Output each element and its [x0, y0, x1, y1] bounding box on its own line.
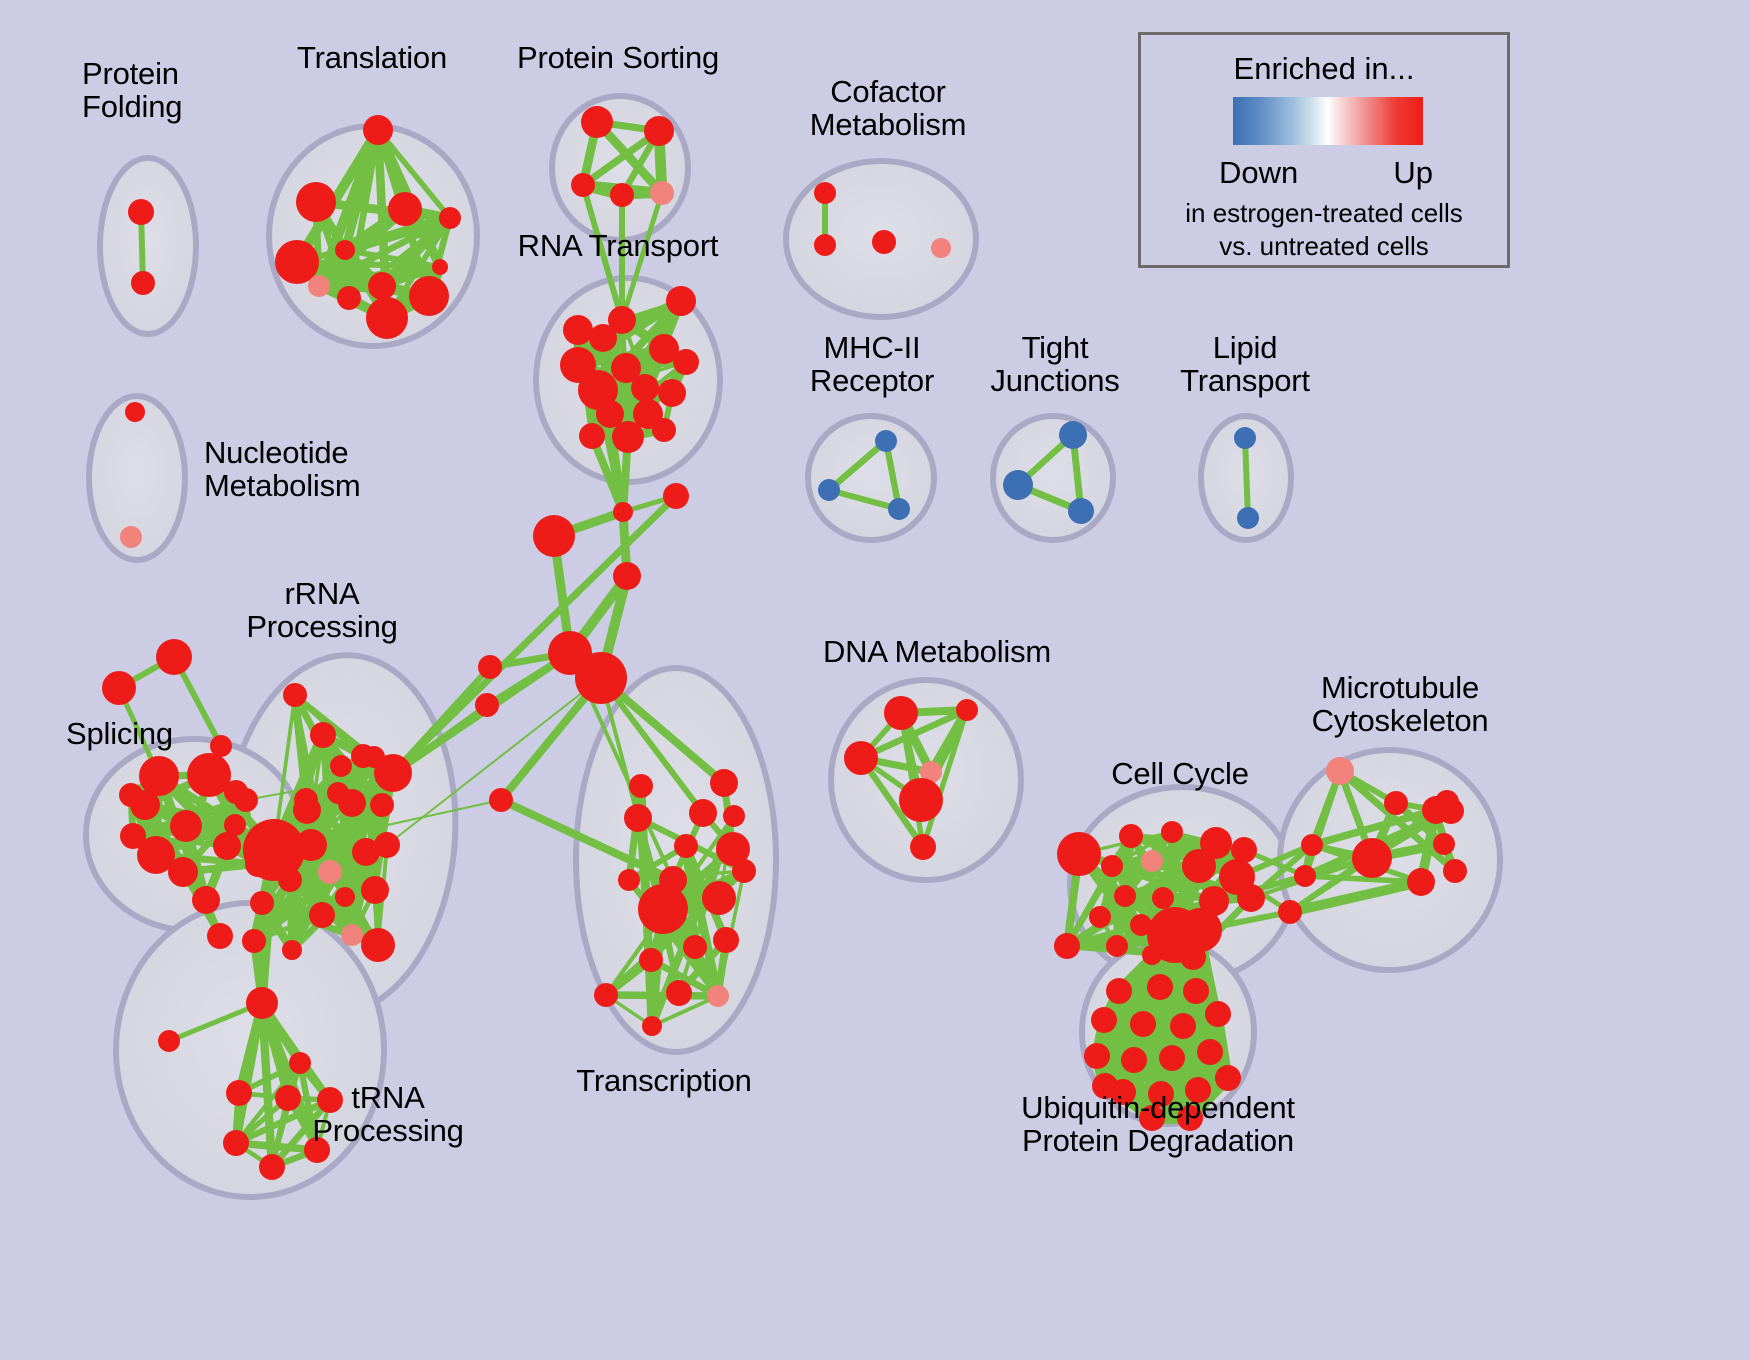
- legend-up-label: Up: [1393, 155, 1433, 191]
- cluster-ellipse-mhc-ii-receptor: [808, 416, 934, 540]
- gene-set-node[interactable]: [309, 902, 335, 928]
- gene-set-node[interactable]: [368, 272, 396, 300]
- gene-set-node[interactable]: [818, 479, 840, 501]
- gene-set-node[interactable]: [1161, 821, 1183, 843]
- gene-set-node[interactable]: [119, 783, 143, 807]
- gene-set-node[interactable]: [1433, 833, 1455, 855]
- gene-set-node[interactable]: [1180, 944, 1206, 970]
- gene-set-node[interactable]: [629, 774, 653, 798]
- gene-set-node[interactable]: [1182, 849, 1216, 883]
- gene-set-node[interactable]: [361, 876, 389, 904]
- gene-set-node[interactable]: [432, 259, 448, 275]
- cluster-label-lipid-transport: Lipid Transport: [1180, 332, 1310, 398]
- gene-set-node[interactable]: [814, 182, 836, 204]
- gene-set-node[interactable]: [732, 859, 756, 883]
- gene-set-node[interactable]: [702, 881, 736, 915]
- gene-set-node[interactable]: [120, 823, 146, 849]
- cluster-label-trna-processing: tRNA Processing: [312, 1082, 463, 1148]
- gene-set-node[interactable]: [366, 297, 408, 339]
- gene-set-node[interactable]: [1147, 974, 1173, 1000]
- gene-set-node[interactable]: [707, 985, 729, 1007]
- gene-set-node[interactable]: [814, 234, 836, 256]
- gene-set-node[interactable]: [533, 515, 575, 557]
- enrichment-map-figure: Protein FoldingTranslationProtein Sortin…: [0, 0, 1750, 1360]
- gene-set-node[interactable]: [644, 116, 674, 146]
- cluster-label-translation: Translation: [297, 42, 447, 75]
- cluster-label-tight-junctions: Tight Junctions: [990, 332, 1119, 398]
- gene-set-node[interactable]: [884, 696, 918, 730]
- gene-set-node[interactable]: [120, 526, 142, 548]
- gene-set-node[interactable]: [888, 498, 910, 520]
- gene-set-node[interactable]: [1205, 1001, 1231, 1027]
- gene-set-node[interactable]: [318, 860, 342, 884]
- gene-set-node[interactable]: [330, 755, 352, 777]
- gene-set-node[interactable]: [289, 1052, 311, 1074]
- gene-set-node[interactable]: [1301, 834, 1323, 856]
- gene-set-node[interactable]: [663, 483, 689, 509]
- gene-set-node[interactable]: [226, 1080, 252, 1106]
- gene-set-node[interactable]: [1054, 933, 1080, 959]
- gene-set-node[interactable]: [658, 379, 686, 407]
- cluster-ellipse-protein-folding: [100, 158, 196, 334]
- gene-set-node[interactable]: [1057, 832, 1101, 876]
- gene-set-node[interactable]: [1215, 1065, 1241, 1091]
- gene-set-node[interactable]: [1237, 884, 1265, 912]
- gene-set-node[interactable]: [1443, 859, 1467, 883]
- gene-set-node[interactable]: [612, 421, 644, 453]
- gene-set-node[interactable]: [335, 887, 355, 907]
- gene-set-node[interactable]: [618, 869, 640, 891]
- overlap-edge: [1245, 438, 1248, 518]
- gene-set-node[interactable]: [275, 1085, 301, 1111]
- cluster-label-microtubule-cytoskeleton: Microtubule Cytoskeleton: [1312, 672, 1489, 738]
- legend-title: Enriched in...: [1141, 51, 1507, 87]
- gene-set-node[interactable]: [1106, 978, 1132, 1004]
- gene-set-node[interactable]: [361, 928, 395, 962]
- gene-set-node[interactable]: [1384, 791, 1408, 815]
- gene-set-node[interactable]: [207, 923, 233, 949]
- gene-set-node[interactable]: [210, 735, 232, 757]
- cluster-label-ubiquitin-degradation: Ubiquitin-dependent Protein Degradation: [1021, 1092, 1295, 1158]
- gene-set-node[interactable]: [1089, 906, 1111, 928]
- gene-set-node[interactable]: [295, 829, 327, 861]
- gene-set-node[interactable]: [571, 173, 595, 197]
- gene-set-node[interactable]: [1119, 824, 1143, 848]
- gene-set-node[interactable]: [931, 238, 951, 258]
- gene-set-node[interactable]: [639, 948, 663, 972]
- gene-set-node[interactable]: [1234, 427, 1256, 449]
- gene-set-node[interactable]: [713, 927, 739, 953]
- gene-set-node[interactable]: [594, 983, 618, 1007]
- gene-set-node[interactable]: [278, 868, 302, 892]
- gene-set-node[interactable]: [282, 940, 302, 960]
- gene-set-node[interactable]: [683, 935, 707, 959]
- gene-set-node[interactable]: [168, 857, 198, 887]
- gene-set-node[interactable]: [156, 639, 192, 675]
- cluster-label-transcription: Transcription: [576, 1065, 751, 1098]
- gene-set-node[interactable]: [956, 699, 978, 721]
- gene-set-node[interactable]: [1183, 978, 1209, 1004]
- gene-set-node[interactable]: [624, 804, 652, 832]
- gene-set-node[interactable]: [131, 271, 155, 295]
- gene-set-node[interactable]: [1084, 1043, 1110, 1069]
- gene-set-node[interactable]: [575, 652, 627, 704]
- gene-set-node[interactable]: [337, 286, 361, 310]
- gene-set-node[interactable]: [475, 693, 499, 717]
- gene-set-node[interactable]: [310, 722, 336, 748]
- gene-set-node[interactable]: [1068, 498, 1094, 524]
- cluster-label-rrna-processing: rRNA Processing: [246, 578, 397, 644]
- gene-set-node[interactable]: [1130, 914, 1152, 936]
- gene-set-node[interactable]: [631, 374, 659, 402]
- gene-set-node[interactable]: [638, 884, 688, 934]
- gene-set-node[interactable]: [246, 987, 278, 1019]
- gene-set-node[interactable]: [581, 106, 613, 138]
- gene-set-node[interactable]: [388, 192, 422, 226]
- gene-set-node[interactable]: [1326, 757, 1354, 785]
- gene-set-node[interactable]: [242, 929, 266, 953]
- gene-set-node[interactable]: [689, 799, 717, 827]
- gene-set-node[interactable]: [213, 832, 241, 860]
- legend-subtitle-line1: in estrogen-treated cells: [1141, 198, 1507, 229]
- gene-set-node[interactable]: [439, 207, 461, 229]
- gene-set-node[interactable]: [170, 810, 202, 842]
- gene-set-node[interactable]: [294, 788, 318, 812]
- gene-set-node[interactable]: [1121, 1047, 1147, 1073]
- gene-set-node[interactable]: [128, 199, 154, 225]
- cluster-label-cofactor-metabolism: Cofactor Metabolism: [810, 76, 967, 142]
- gene-set-node[interactable]: [710, 769, 738, 797]
- legend-subtitle-line2: vs. untreated cells: [1141, 231, 1507, 262]
- gene-set-node[interactable]: [642, 1016, 662, 1036]
- gene-set-node[interactable]: [1199, 886, 1229, 916]
- gene-set-node[interactable]: [610, 183, 634, 207]
- gene-set-node[interactable]: [370, 793, 394, 817]
- gene-set-node[interactable]: [613, 562, 641, 590]
- gene-set-node[interactable]: [259, 1154, 285, 1180]
- gene-set-node[interactable]: [1231, 837, 1257, 863]
- legend-down-label: Down: [1219, 155, 1298, 191]
- gene-set-node[interactable]: [250, 891, 274, 915]
- gene-set-node[interactable]: [910, 834, 936, 860]
- cluster-label-nucleotide-metabolism: Nucleotide Metabolism: [204, 437, 361, 503]
- gene-set-node[interactable]: [283, 683, 307, 707]
- gene-set-node[interactable]: [1141, 850, 1163, 872]
- gene-set-node[interactable]: [613, 502, 633, 522]
- gene-set-node[interactable]: [1106, 935, 1128, 957]
- gene-set-node[interactable]: [1237, 507, 1259, 529]
- gene-set-node[interactable]: [125, 402, 145, 422]
- gene-set-node[interactable]: [192, 886, 220, 914]
- gene-set-node[interactable]: [223, 1130, 249, 1156]
- gene-set-node[interactable]: [1170, 1013, 1196, 1039]
- gene-set-node[interactable]: [1152, 887, 1174, 909]
- gene-set-node[interactable]: [409, 276, 449, 316]
- gene-set-node[interactable]: [341, 924, 363, 946]
- gene-set-node[interactable]: [1438, 798, 1464, 824]
- cluster-label-splicing: Splicing: [66, 718, 173, 751]
- gene-set-node[interactable]: [1003, 470, 1033, 500]
- gene-set-node[interactable]: [723, 805, 745, 827]
- gene-set-node[interactable]: [666, 286, 696, 316]
- gene-set-node[interactable]: [579, 423, 605, 449]
- gene-set-node[interactable]: [674, 834, 698, 858]
- gene-set-node[interactable]: [1142, 945, 1162, 965]
- gene-set-node[interactable]: [650, 181, 674, 205]
- gene-set-node[interactable]: [338, 789, 366, 817]
- gene-set-node[interactable]: [844, 741, 878, 775]
- cluster-label-dna-metabolism: DNA Metabolism: [823, 636, 1051, 669]
- gene-set-node[interactable]: [478, 655, 502, 679]
- gene-set-node[interactable]: [589, 324, 617, 352]
- gene-set-node[interactable]: [1114, 885, 1136, 907]
- cluster-label-mhc-ii-receptor: MHC-II Receptor: [810, 332, 934, 398]
- gene-set-node[interactable]: [308, 275, 330, 297]
- gene-set-node[interactable]: [652, 418, 676, 442]
- gene-set-node[interactable]: [563, 315, 593, 345]
- legend-color-gradient-bar: [1233, 97, 1423, 145]
- gene-set-node[interactable]: [374, 832, 400, 858]
- gene-set-node[interactable]: [899, 778, 943, 822]
- gene-set-node[interactable]: [1278, 900, 1302, 924]
- legend-box: Enriched in... Down Up in estrogen-treat…: [1138, 32, 1510, 268]
- cluster-label-protein-sorting: Protein Sorting: [517, 42, 719, 75]
- gene-set-node[interactable]: [102, 671, 136, 705]
- gene-set-node[interactable]: [1159, 1045, 1185, 1071]
- gene-set-node[interactable]: [875, 430, 897, 452]
- gene-set-node[interactable]: [335, 240, 355, 260]
- gene-set-node[interactable]: [224, 780, 248, 804]
- gene-set-node[interactable]: [489, 788, 513, 812]
- gene-set-node[interactable]: [1059, 421, 1087, 449]
- gene-set-node[interactable]: [1101, 855, 1123, 877]
- gene-set-node[interactable]: [1294, 865, 1316, 887]
- gene-set-node[interactable]: [1197, 1039, 1223, 1065]
- gene-set-node[interactable]: [296, 182, 336, 222]
- cluster-label-rna-transport: RNA Transport: [518, 230, 719, 263]
- cluster-label-cell-cycle: Cell Cycle: [1111, 758, 1249, 791]
- gene-set-node[interactable]: [158, 1030, 180, 1052]
- cluster-label-protein-folding: Protein Folding: [82, 58, 182, 124]
- gene-set-node[interactable]: [374, 754, 412, 792]
- gene-set-node[interactable]: [1352, 838, 1392, 878]
- gene-set-node[interactable]: [666, 980, 692, 1006]
- gene-set-node[interactable]: [1091, 1007, 1117, 1033]
- gene-set-node[interactable]: [872, 230, 896, 254]
- gene-set-node[interactable]: [363, 115, 393, 145]
- gene-set-node[interactable]: [673, 349, 699, 375]
- gene-set-node[interactable]: [1407, 868, 1435, 896]
- gene-set-node[interactable]: [1130, 1011, 1156, 1037]
